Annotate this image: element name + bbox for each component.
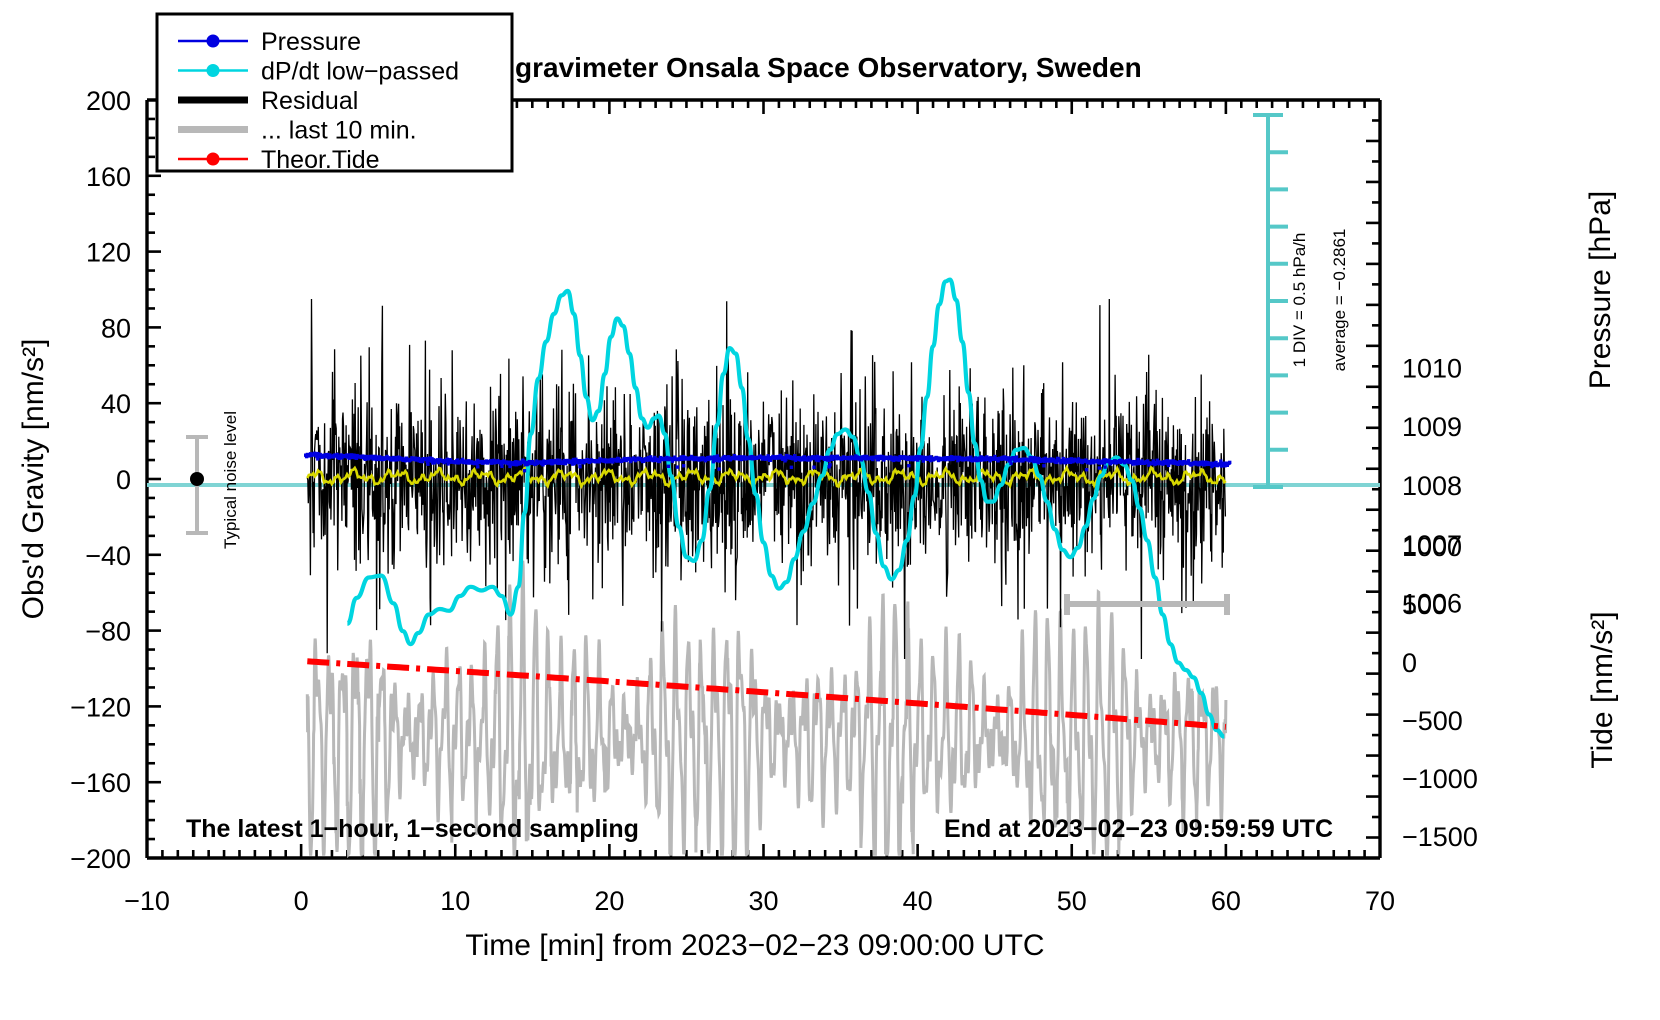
y-tick-label: 0 — [116, 465, 131, 495]
legend-marker — [207, 64, 220, 77]
legend-label: dP/dt low−passed — [261, 58, 459, 86]
y-tick-label: −120 — [70, 692, 131, 722]
x-tick-label: −10 — [124, 886, 170, 916]
pressure-tick-label: 1010 — [1402, 353, 1462, 383]
tide-tick-label: −1000 — [1402, 764, 1478, 794]
x-tick-label: 0 — [294, 886, 309, 916]
legend-label: Theor.Tide — [261, 146, 380, 174]
noise-level-label: Typical noise level — [221, 411, 240, 549]
scalebar-average-label: average = −0.2861 — [1330, 229, 1349, 372]
scalebar-div-label: 1 DIV = 0.5 hPa/h — [1290, 233, 1309, 368]
y-tick-label: 160 — [86, 162, 131, 192]
y-axis-title-tide: Tide [nm/s²] — [1586, 611, 1619, 768]
y-tick-label: 120 — [86, 238, 131, 268]
tide-tick-label: 0 — [1402, 648, 1417, 678]
y-tick-label: 40 — [101, 389, 131, 419]
x-tick-label: 60 — [1211, 886, 1241, 916]
pressure-tick-label: 1009 — [1402, 412, 1462, 442]
tide-tick-label: 1000 — [1402, 532, 1462, 562]
pressure-tick-label: 1008 — [1402, 471, 1462, 501]
tide-tick-label: 500 — [1402, 590, 1447, 620]
x-tick-label: 50 — [1057, 886, 1087, 916]
x-tick-label: 30 — [748, 886, 778, 916]
legend-label: ... last 10 min. — [261, 117, 417, 145]
tide-tick-label: −1500 — [1402, 822, 1478, 852]
x-tick-label: 20 — [594, 886, 624, 916]
y-tick-label: 200 — [86, 86, 131, 116]
gravimeter-plot: 20016012080400−40−80−120−160−200 1010100… — [0, 0, 1660, 1020]
y-axis-title-pressure: Pressure [hPa] — [1584, 191, 1617, 389]
bottom-right-note: End at 2023−02−23 09:59:59 UTC — [944, 815, 1333, 843]
x-tick-label: 70 — [1365, 886, 1395, 916]
legend-marker — [207, 35, 220, 48]
tide-tick-label: −500 — [1402, 706, 1463, 736]
y-tick-label: 80 — [101, 313, 131, 343]
legend-label: Pressure — [261, 28, 361, 56]
y-tick-label: −200 — [70, 844, 131, 874]
bottom-left-note: The latest 1−hour, 1−second sampling — [186, 815, 639, 843]
plot-svg: 20016012080400−40−80−120−160−200 1010100… — [0, 0, 1660, 1020]
y-tick-label: −160 — [70, 768, 131, 798]
y-tick-label: −40 — [85, 541, 131, 571]
x-tick-label: 10 — [440, 886, 470, 916]
x-tick-label: 40 — [903, 886, 933, 916]
legend-label: Residual — [261, 87, 358, 115]
x-axis-title: Time [min] from 2023−02−23 09:00:00 UTC — [465, 929, 1044, 962]
legend[interactable]: PressuredP/dt low−passedResidual... last… — [157, 14, 512, 174]
y-tick-label: −80 — [85, 617, 131, 647]
y-axis-title-left: Obs'd Gravity [nm/s²] — [17, 339, 50, 620]
legend-marker — [207, 153, 220, 166]
